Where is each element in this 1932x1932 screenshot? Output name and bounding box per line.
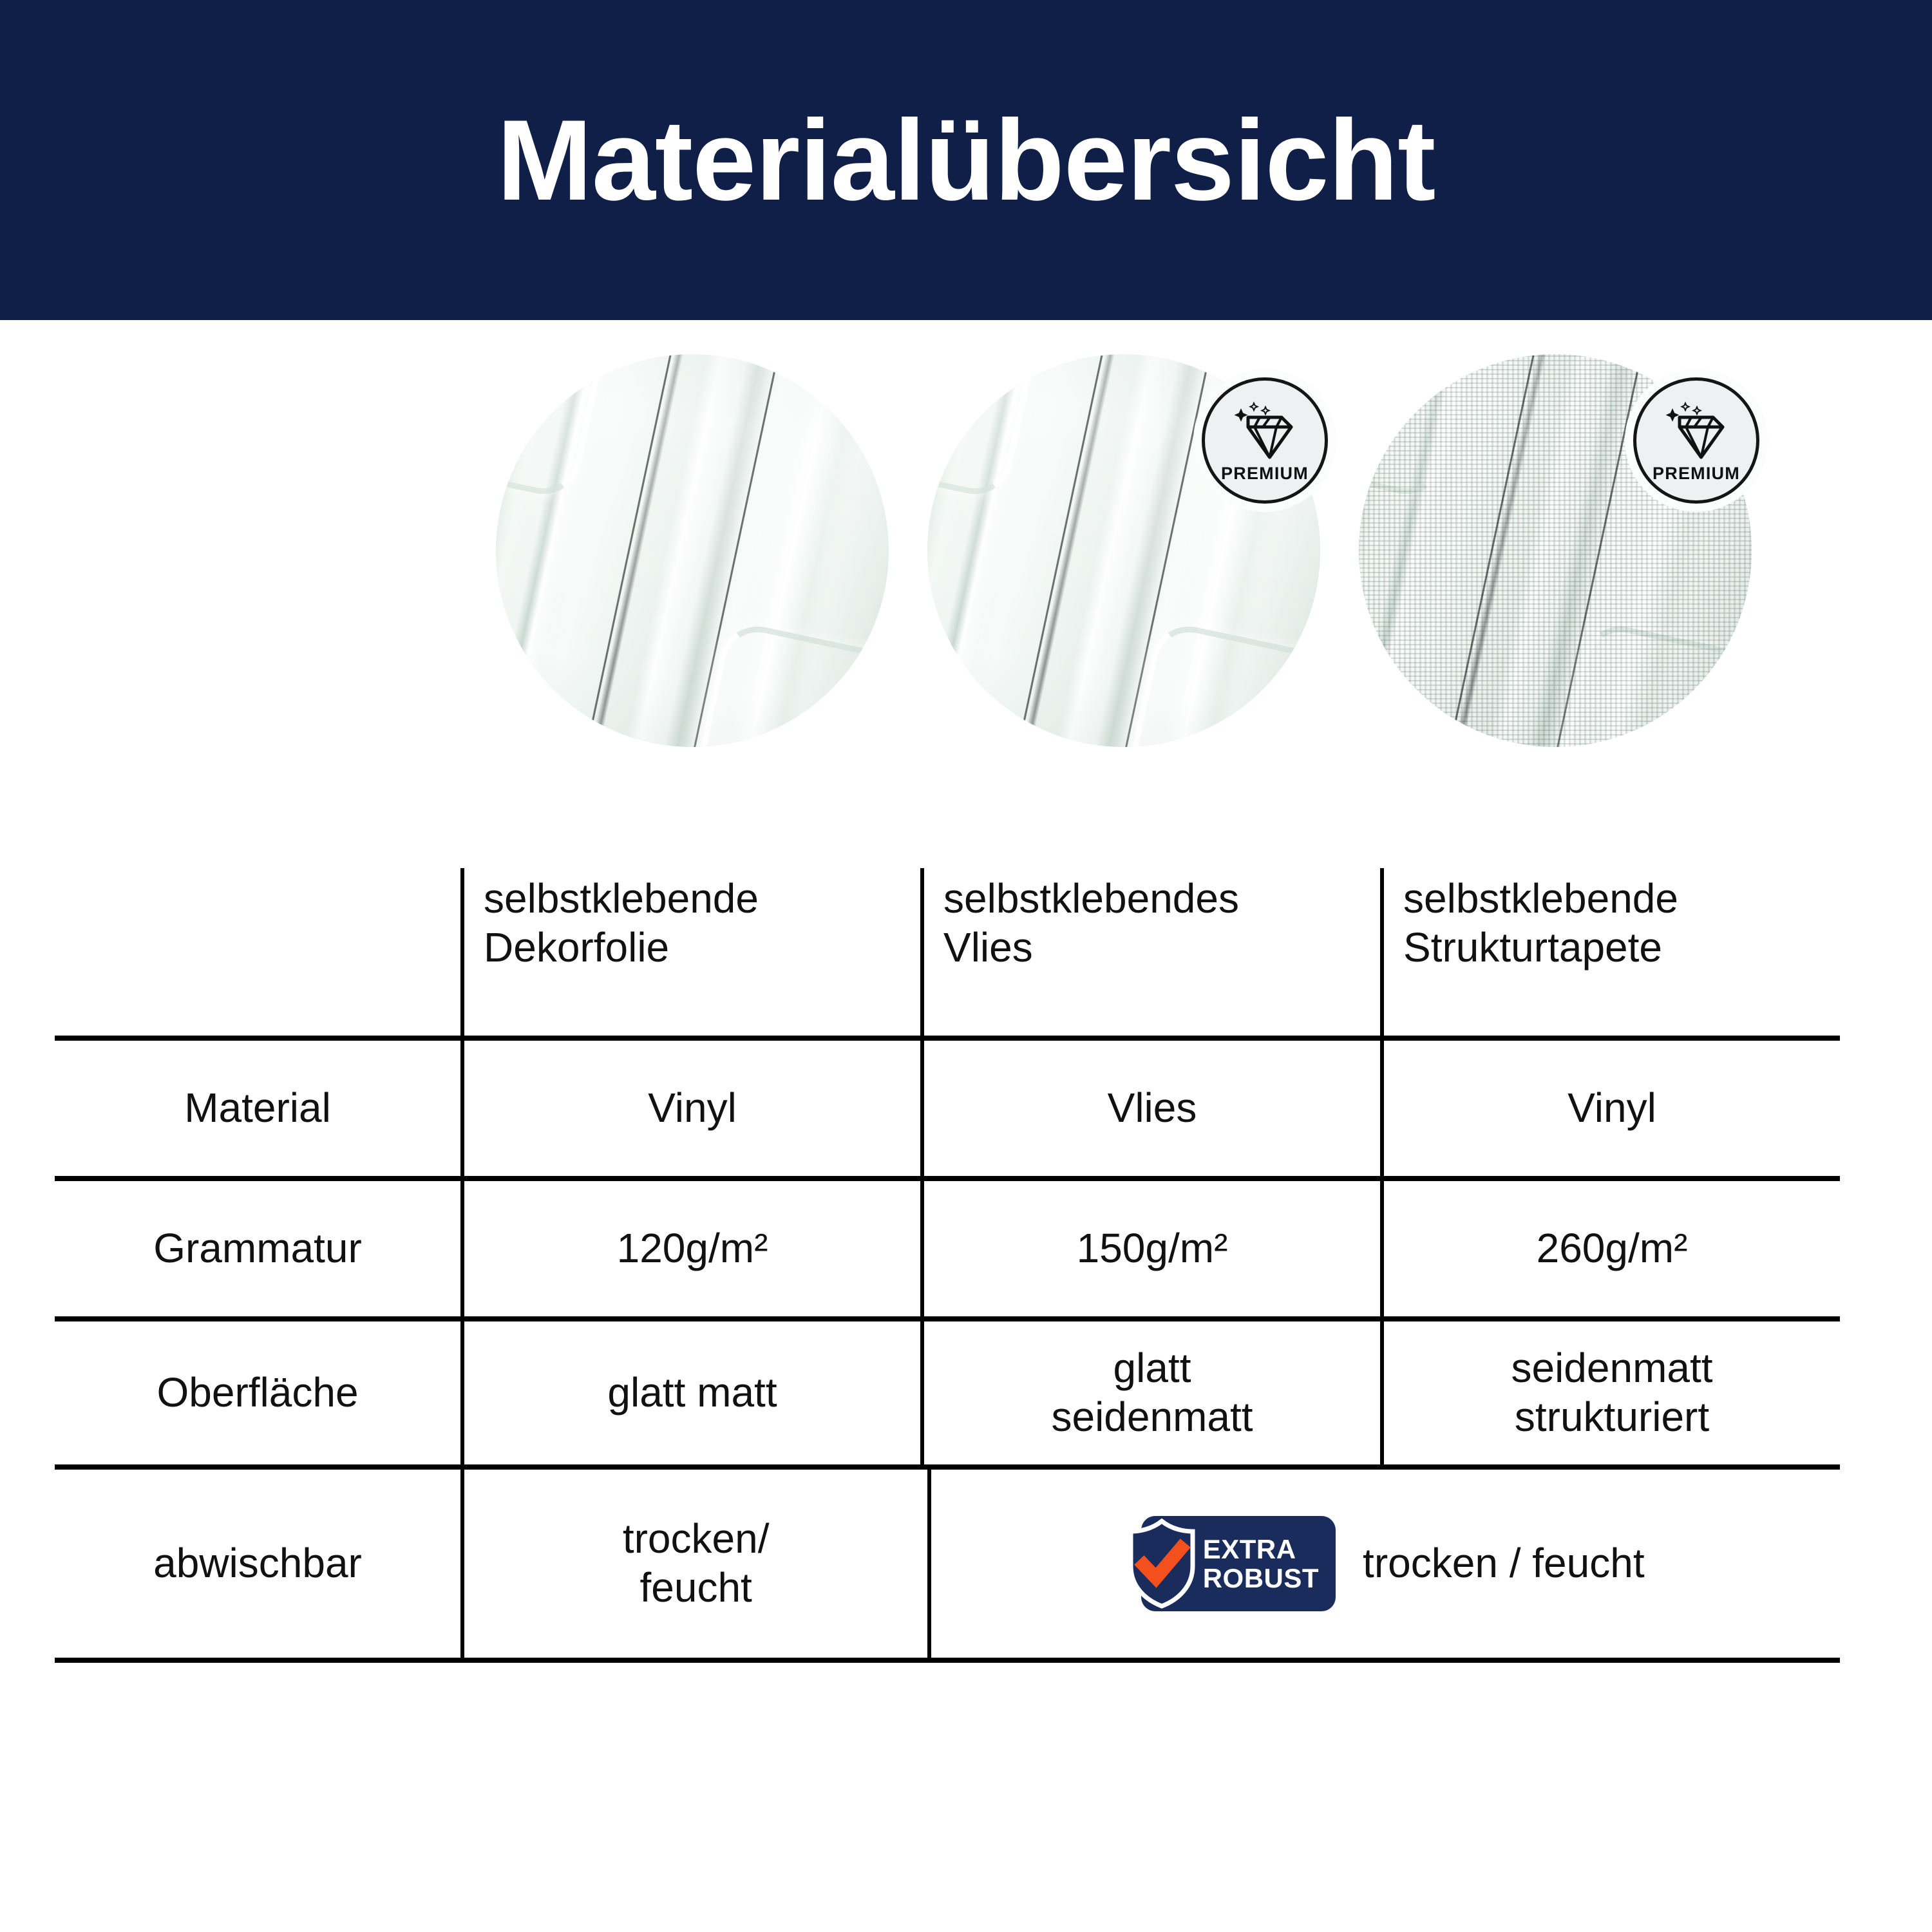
row-label-oberflaeche: Oberfläche [55, 1321, 460, 1464]
cell-line2: seidenmatt [1051, 1393, 1253, 1442]
material-samples-row: PREMIUM [0, 341, 1932, 766]
premium-badge-label: PREMIUM [1653, 464, 1740, 484]
cell-material-dekorfolie: Vinyl [460, 1041, 920, 1176]
page-title: Materialübersicht [497, 103, 1435, 218]
header-banner: Materialübersicht [0, 0, 1932, 320]
column-header-line2: Strukturtapete [1403, 923, 1678, 972]
cell-line1: seidenmatt [1511, 1344, 1712, 1393]
premium-badge: PREMIUM [1202, 377, 1328, 504]
sample-strukturtapete[interactable]: PREMIUM [1359, 354, 1752, 747]
premium-badge-label: PREMIUM [1221, 464, 1309, 484]
sample-image-dekorfolie [496, 354, 889, 747]
table-row-grammatur: Grammatur 120g/m² 150g/m² 260g/m² [55, 1176, 1840, 1316]
row-label-abwischbar: abwischbar [55, 1470, 460, 1658]
cell-material-strukturtapete: Vinyl [1380, 1041, 1840, 1176]
table-row-abwischbar: abwischbar trocken/ feucht EXTRA ROBUST [55, 1464, 1840, 1658]
row-label-grammatur: Grammatur [55, 1181, 460, 1316]
cell-abwischbar-vlies-strukturtapete: EXTRA ROBUST trocken / feucht [927, 1470, 1840, 1658]
extra-robust-plate: EXTRA ROBUST [1141, 1516, 1336, 1611]
column-header-line2: Dekorfolie [484, 923, 759, 972]
diamond-icon [1230, 398, 1300, 460]
column-header-line1: selbstklebende [1403, 875, 1678, 923]
sample-dekorfolie[interactable] [496, 354, 889, 747]
column-header-line1: selbstklebendes [943, 875, 1239, 923]
table-header-row: selbstklebende Dekorfolie selbstklebende… [55, 868, 1840, 1036]
cell-oberflaeche-dekorfolie: glatt matt [460, 1321, 920, 1464]
diamond-icon [1662, 398, 1731, 460]
cell-grammatur-vlies: 150g/m² [920, 1181, 1380, 1316]
cell-abwischbar-dekorfolie: trocken/ feucht [460, 1470, 927, 1658]
table-corner-cell [55, 868, 460, 1036]
sample-vlies[interactable]: PREMIUM [927, 354, 1320, 747]
table-row-oberflaeche: Oberfläche glatt matt glatt seidenmatt s… [55, 1316, 1840, 1464]
cell-oberflaeche-vlies: glatt seidenmatt [920, 1321, 1380, 1464]
column-header-line2: Vlies [943, 923, 1239, 972]
cell-line1: glatt [1051, 1344, 1253, 1393]
cell-abwischbar-merged-text: trocken / feucht [1363, 1539, 1645, 1588]
column-header-vlies: selbstklebendes Vlies [920, 868, 1380, 1036]
cell-line2: feucht [623, 1564, 770, 1613]
cell-material-vlies: Vlies [920, 1041, 1380, 1176]
cell-line1: trocken/ [623, 1515, 770, 1564]
column-header-dekorfolie: selbstklebende Dekorfolie [460, 868, 920, 1036]
cell-grammatur-dekorfolie: 120g/m² [460, 1181, 920, 1316]
column-header-strukturtapete: selbstklebende Strukturtapete [1380, 868, 1840, 1036]
extra-robust-line2: ROBUST [1203, 1564, 1319, 1593]
premium-badge: PREMIUM [1633, 377, 1759, 504]
material-comparison-table: selbstklebende Dekorfolie selbstklebende… [55, 868, 1840, 1663]
column-header-line1: selbstklebende [484, 875, 759, 923]
cell-line2: strukturiert [1511, 1393, 1712, 1442]
table-row-material: Material Vinyl Vlies Vinyl [55, 1036, 1840, 1176]
shield-check-icon [1127, 1519, 1197, 1609]
cell-oberflaeche-strukturtapete: seidenmatt strukturiert [1380, 1321, 1840, 1464]
cell-grammatur-strukturtapete: 260g/m² [1380, 1181, 1840, 1316]
extra-robust-line1: EXTRA [1203, 1535, 1296, 1564]
extra-robust-badge: EXTRA ROBUST [1127, 1515, 1336, 1612]
row-label-material: Material [55, 1041, 460, 1176]
